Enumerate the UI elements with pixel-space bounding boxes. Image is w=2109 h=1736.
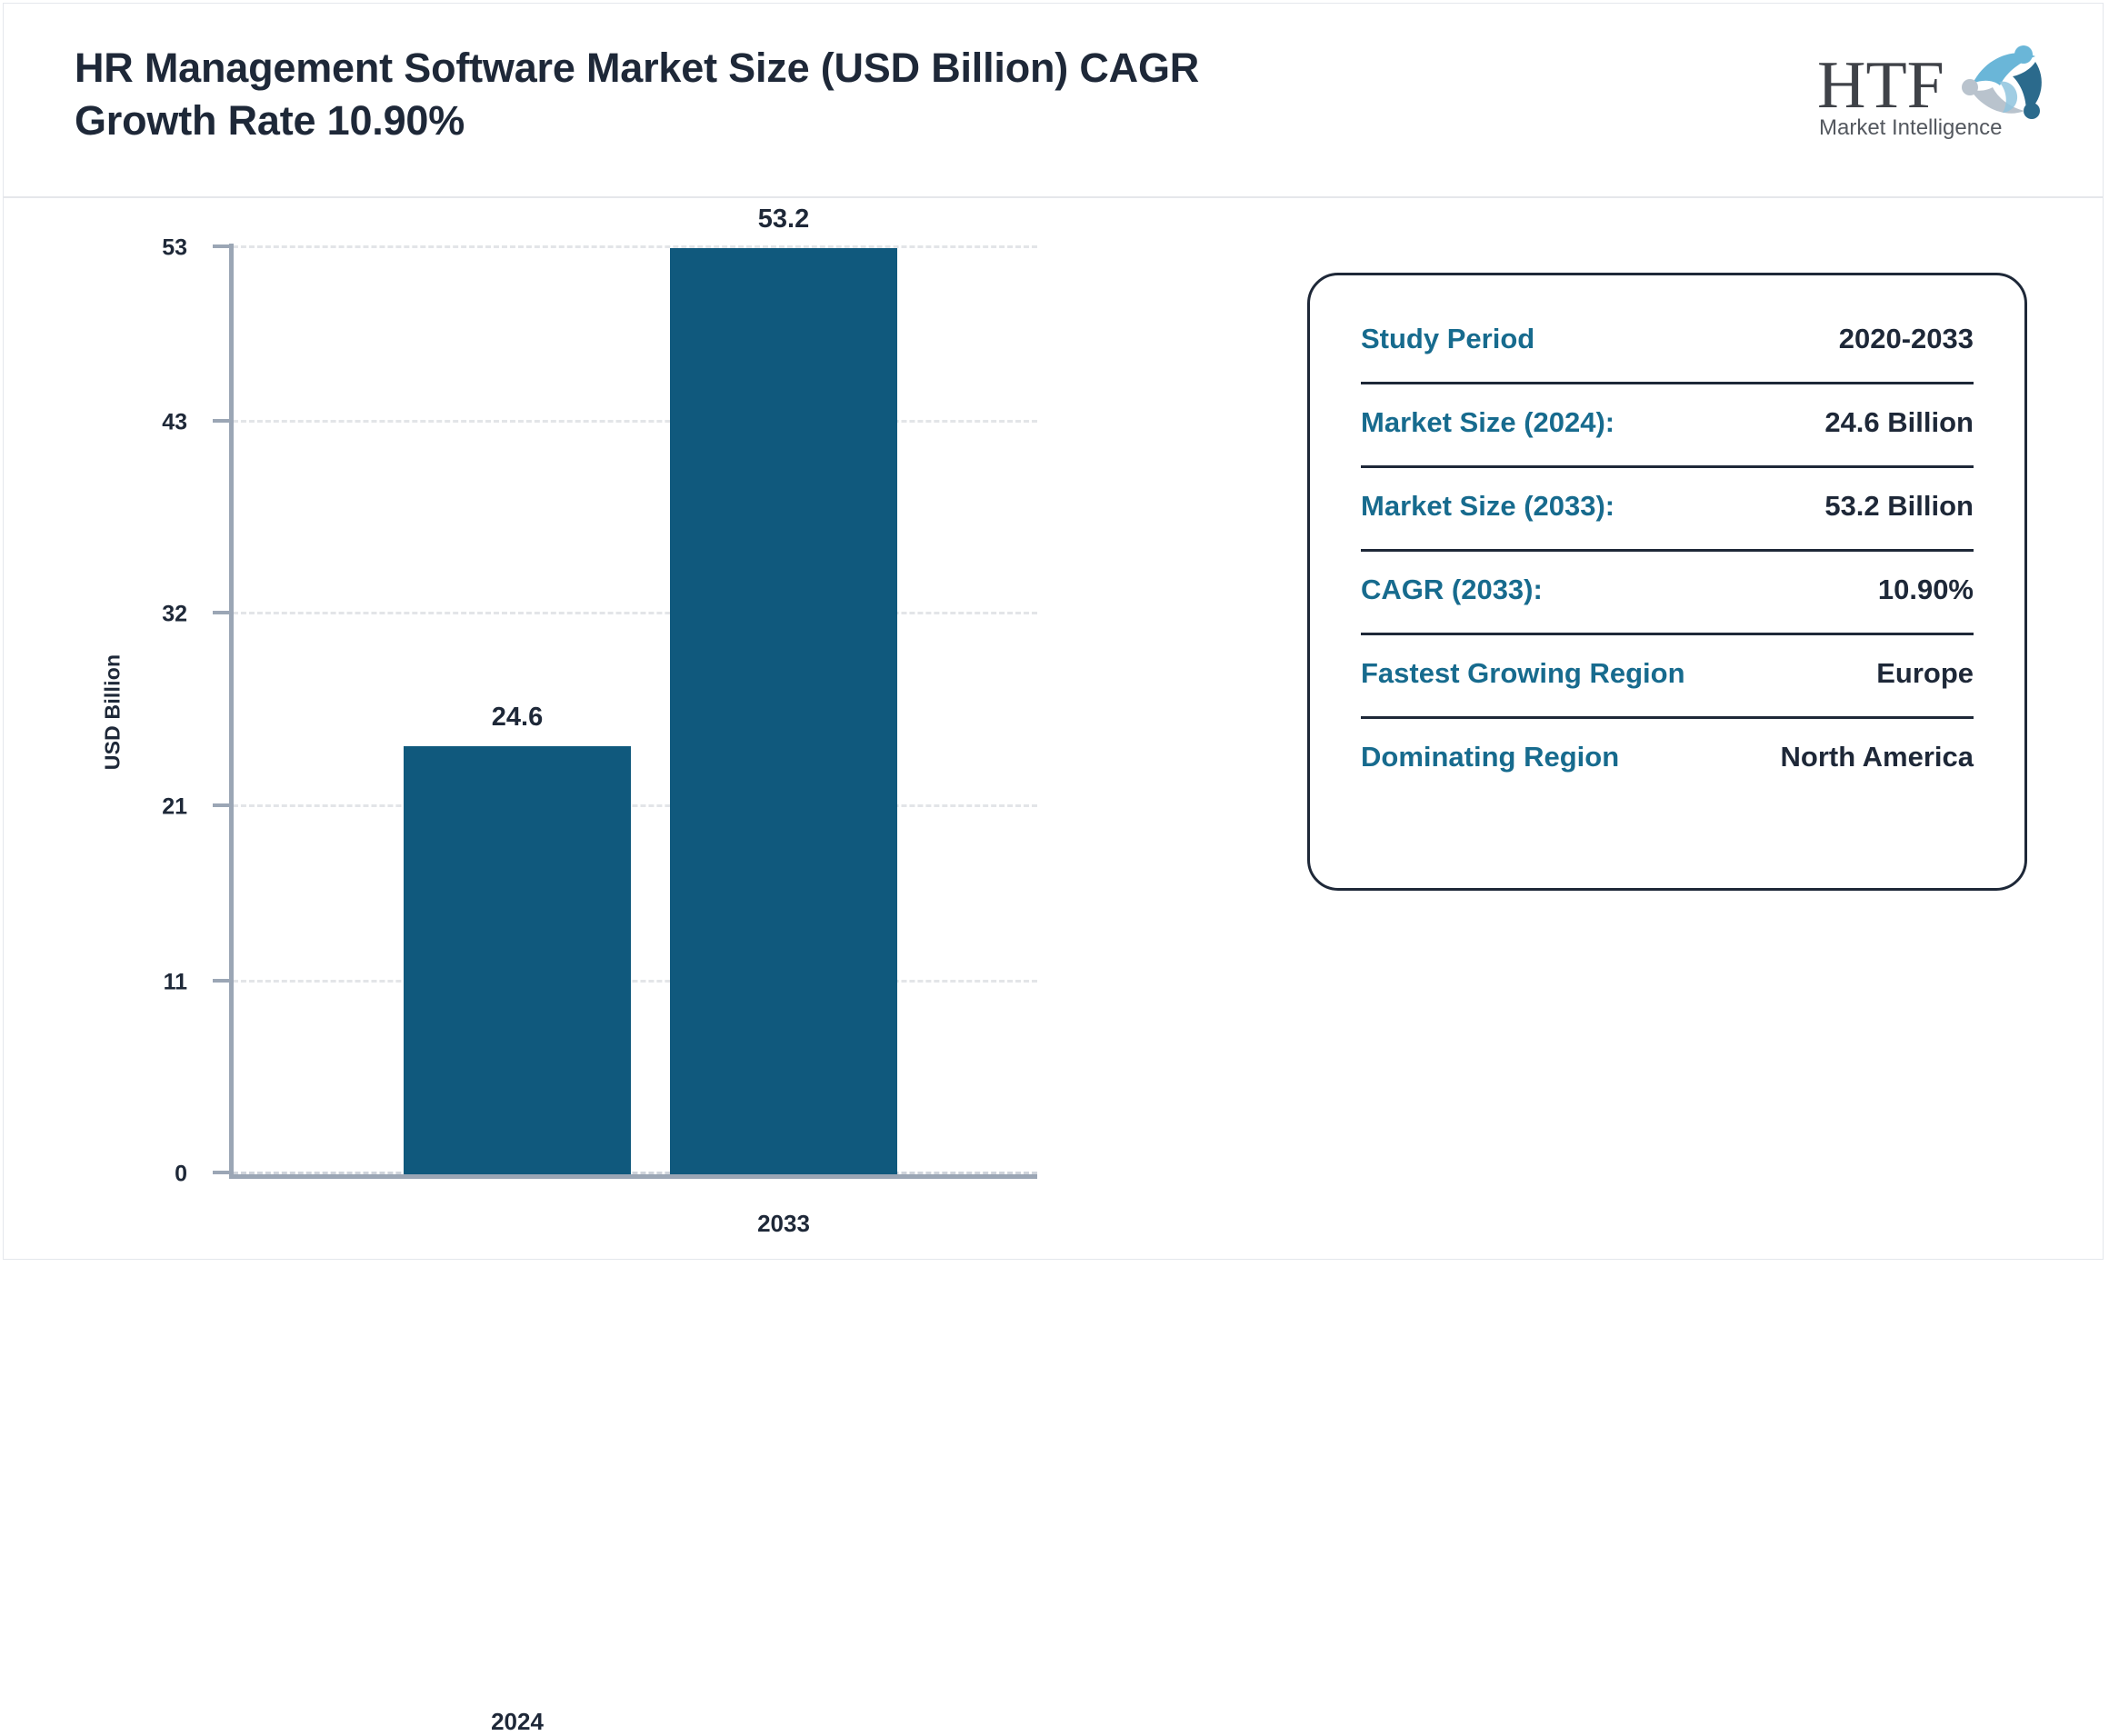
row-label-fastest-growing-region: Fastest Growing Region (1361, 635, 1685, 690)
page-title: HR Management Software Market Size (USD … (75, 42, 1211, 146)
table-row: Study Period 2020-2033 (1361, 301, 1974, 384)
plot-area: 0 11 21 32 43 53 24.6 (233, 244, 1037, 1174)
logo-icon: HTF Market Intelligence (1814, 35, 2059, 144)
page-header: HR Management Software Market Size (USD … (4, 4, 2103, 198)
page-frame: HR Management Software Market Size (USD … (3, 3, 2104, 1260)
y-tick-32: 32 (213, 611, 229, 614)
x-axis-line (229, 1174, 1037, 1179)
bar-value-2024: 24.6 (492, 703, 543, 733)
row-label-dominating-region: Dominating Region (1361, 719, 1619, 773)
row-label-cagr-2033: CAGR (2033): (1361, 552, 1543, 606)
market-summary-card: Study Period 2020-2033 Market Size (2024… (1307, 273, 2027, 891)
x-tick-label-2033: 2033 (757, 1210, 810, 1238)
y-axis-line (229, 244, 234, 1178)
gridline-11 (233, 980, 1037, 983)
y-axis-title: USD Billion (101, 594, 125, 831)
y-tick-label-11: 11 (164, 970, 187, 996)
gridline-32 (233, 612, 1037, 614)
y-tick-label-43: 43 (162, 410, 187, 436)
row-value-cagr-2033: 10.90% (1878, 552, 1974, 606)
x-tick-label-2024: 2024 (491, 1708, 544, 1736)
bar-2033[interactable]: 53.2 2033 (670, 248, 897, 1174)
row-label-market-size-2033: Market Size (2033): (1361, 468, 1614, 523)
y-tick-43: 43 (213, 419, 229, 423)
row-value-market-size-2024: 24.6 Billion (1824, 384, 1974, 439)
logo-wordmark-text: HTF (1817, 48, 1944, 123)
bar-2024[interactable]: 24.6 2024 (404, 746, 631, 1174)
logo-tagline-text: Market Intelligence (1819, 115, 2002, 140)
row-label-market-size-2024: Market Size (2024): (1361, 384, 1614, 439)
row-value-dominating-region: North America (1781, 719, 1974, 773)
table-row: CAGR (2033): 10.90% (1361, 552, 1974, 635)
gridline-53 (233, 245, 1037, 248)
table-row: Fastest Growing Region Europe (1361, 635, 1974, 719)
row-label-study-period: Study Period (1361, 301, 1534, 355)
row-value-market-size-2033: 53.2 Billion (1824, 468, 1974, 523)
gridline-21 (233, 804, 1037, 807)
htf-market-intelligence-logo: HTF Market Intelligence (1814, 35, 2059, 144)
bar-value-2033: 53.2 (758, 205, 809, 234)
y-tick-label-32: 32 (162, 602, 187, 628)
table-row: Dominating Region North America (1361, 719, 1974, 803)
y-tick-label-21: 21 (162, 794, 187, 821)
y-tick-53: 53 (213, 244, 229, 248)
y-tick-21: 21 (213, 803, 229, 807)
y-tick-0: 0 (213, 1171, 229, 1174)
row-value-study-period: 2020-2033 (1839, 301, 1974, 355)
y-tick-label-0: 0 (175, 1162, 187, 1188)
market-summary-rows: Study Period 2020-2033 Market Size (2024… (1361, 301, 1974, 803)
table-row: Market Size (2033): 53.2 Billion (1361, 468, 1974, 552)
row-value-fastest-growing-region: Europe (1876, 635, 1974, 690)
y-tick-11: 11 (213, 979, 229, 983)
gridline-43 (233, 420, 1037, 423)
table-row: Market Size (2024): 24.6 Billion (1361, 384, 1974, 468)
bar-chart: USD Billion 0 11 (4, 200, 1276, 1259)
swirl-icon (1962, 45, 2042, 119)
y-tick-label-53: 53 (162, 235, 187, 262)
